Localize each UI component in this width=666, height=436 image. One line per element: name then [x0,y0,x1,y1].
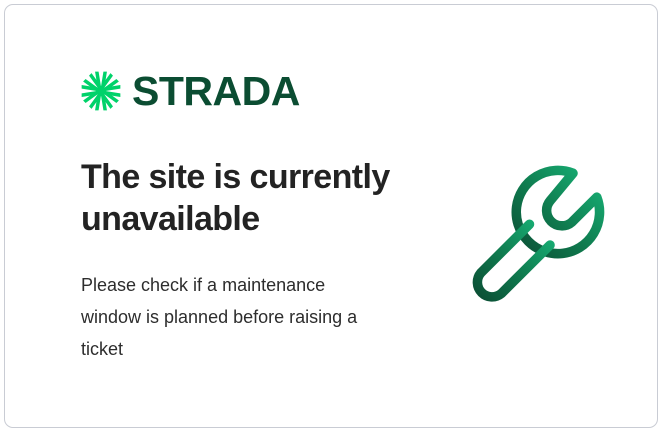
error-description: Please check if a maintenance window is … [81,240,381,365]
brand-wordmark: STRADA [132,71,300,112]
error-card: STRADA The site is currently unavailable… [4,4,658,428]
message-block: The site is currently unavailable Please… [81,156,431,365]
wrench-icon [453,153,623,323]
strada-asterisk-icon [79,69,123,113]
brand-lockup: STRADA [79,69,300,113]
page-title: The site is currently unavailable [81,156,431,240]
